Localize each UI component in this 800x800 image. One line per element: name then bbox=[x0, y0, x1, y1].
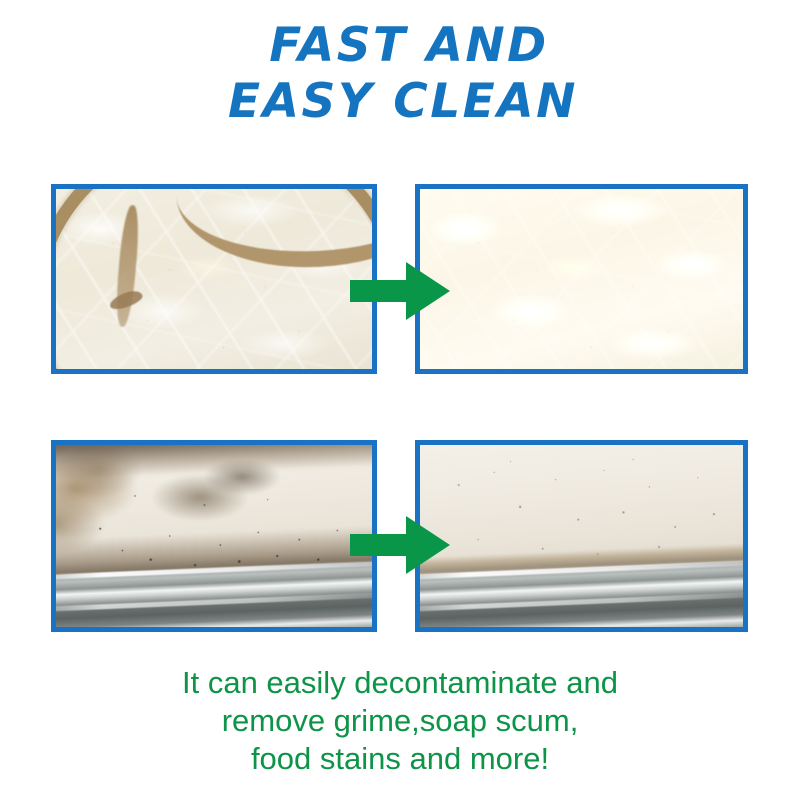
before-after-comparison-grid bbox=[0, 178, 800, 642]
caulk-seam-dirty-image bbox=[56, 445, 372, 627]
countertop-dirty-image bbox=[56, 189, 372, 369]
headline-line-1: FAST AND bbox=[0, 22, 800, 69]
before-photo-caulk-seam bbox=[51, 440, 377, 632]
caulk-scene bbox=[56, 445, 372, 627]
marble-speckle-texture bbox=[420, 189, 743, 369]
before-photo-countertop bbox=[51, 184, 377, 374]
transformation-arrow-bottom bbox=[350, 514, 450, 576]
headline-line-2: EASY CLEAN bbox=[0, 78, 800, 125]
caulk-seam-clean-image bbox=[420, 445, 743, 627]
page-title: FAST AND EASY CLEAN bbox=[0, 22, 800, 125]
caulk-scene bbox=[420, 445, 743, 627]
caption-line-2: remove grime,soap scum, bbox=[0, 702, 800, 740]
after-photo-countertop bbox=[415, 184, 748, 374]
caption-line-3: food stains and more! bbox=[0, 740, 800, 778]
caption-line-1: It can easily decontaminate and bbox=[0, 664, 800, 702]
caption-text: It can easily decontaminate and remove g… bbox=[0, 664, 800, 778]
countertop-clean-image bbox=[420, 189, 743, 369]
after-photo-caulk-seam bbox=[415, 440, 748, 632]
transformation-arrow-top bbox=[350, 260, 450, 322]
